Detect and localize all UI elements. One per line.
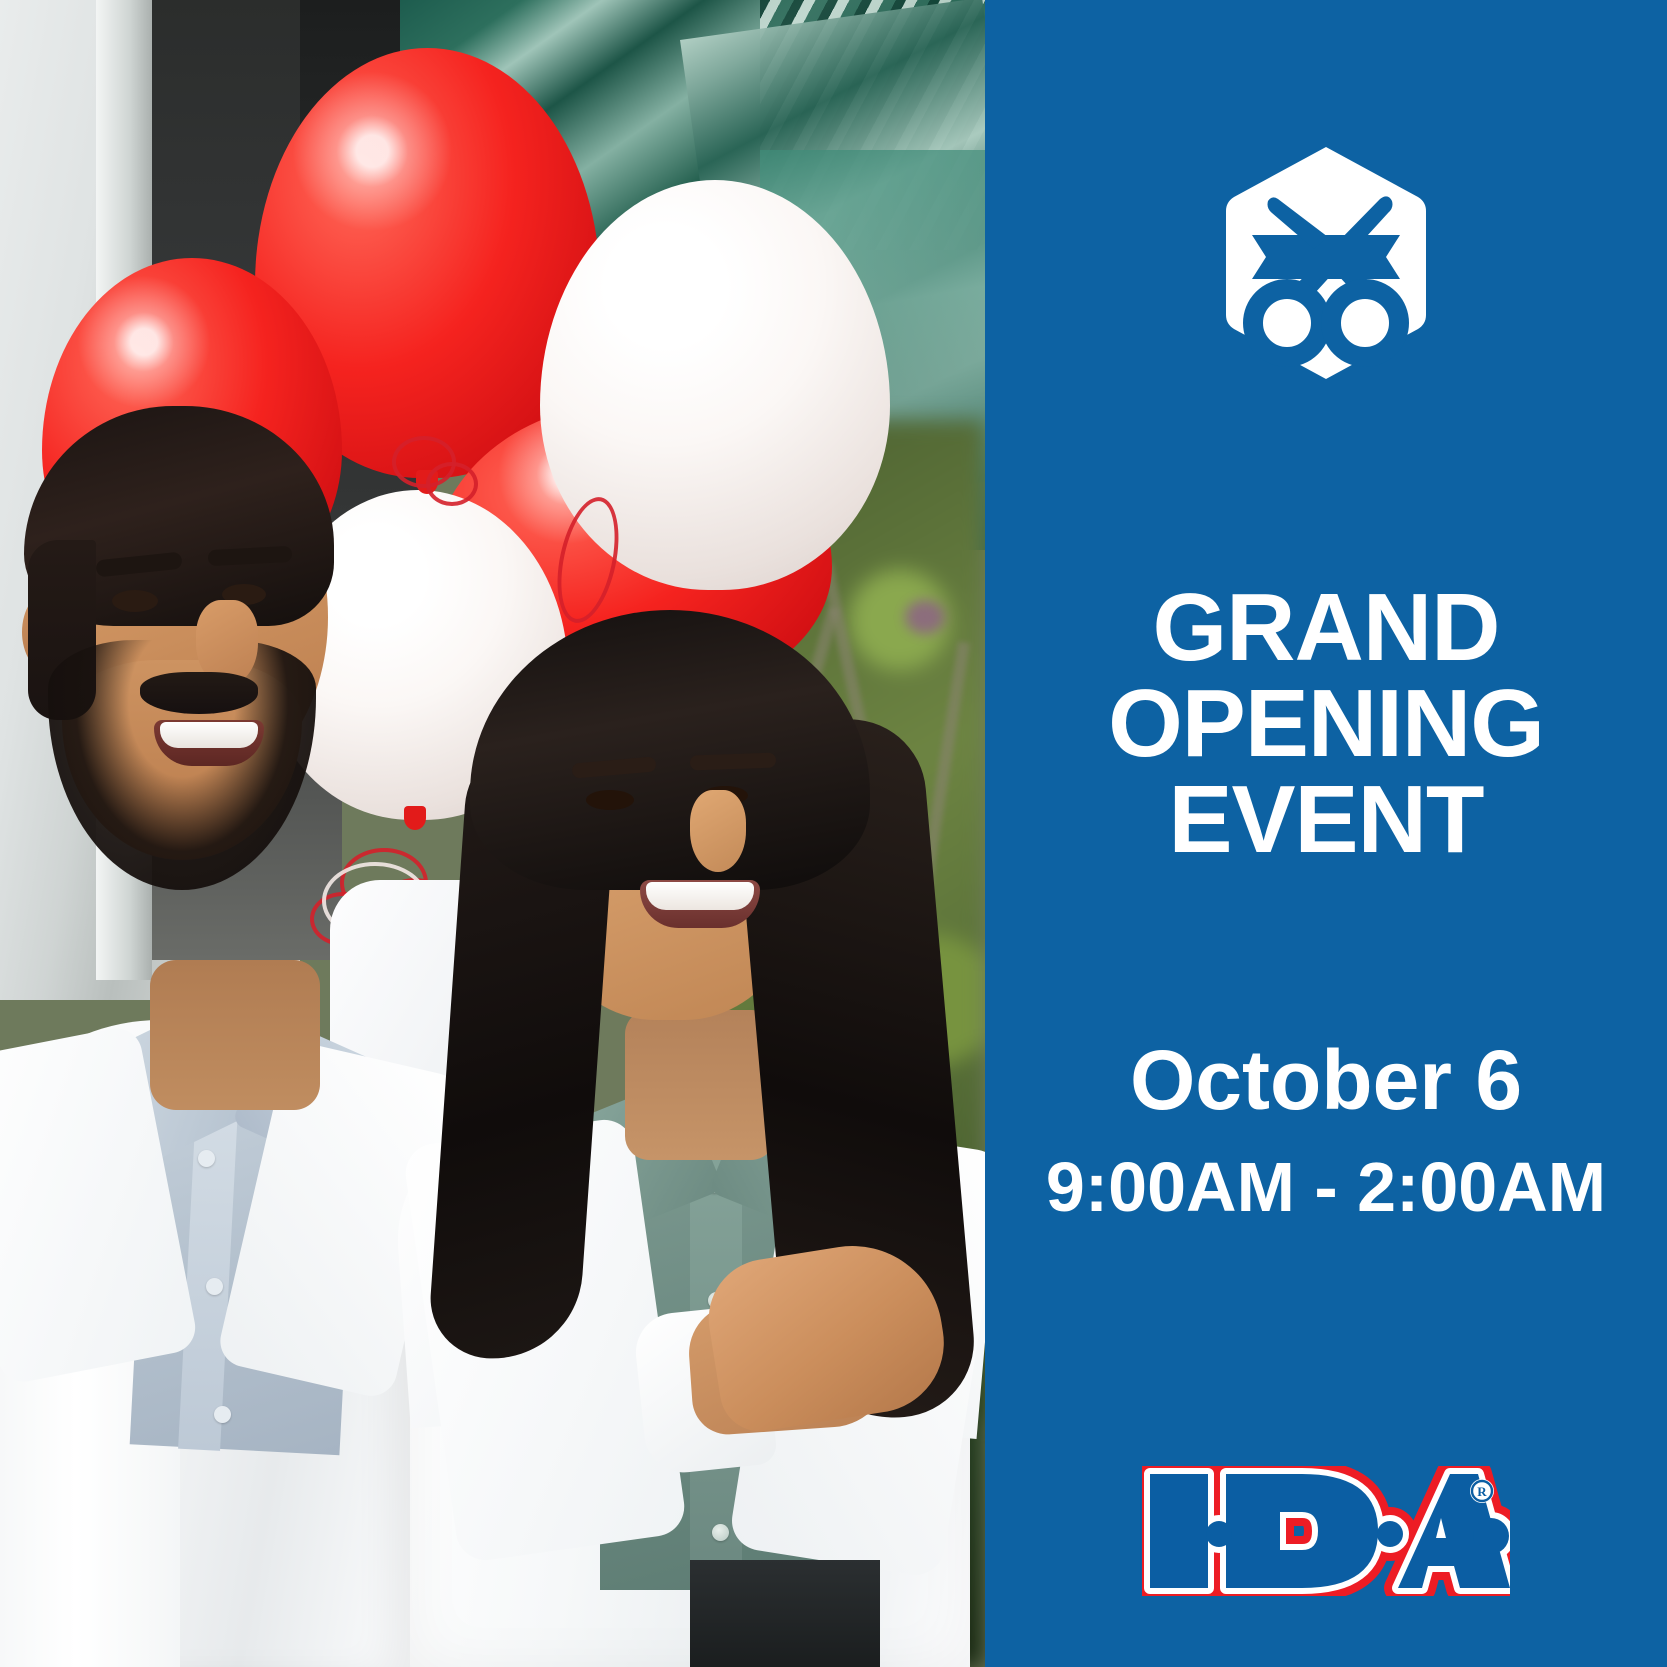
headline: GRAND OPENING EVENT [985,580,1667,868]
svg-text:R: R [1477,1484,1487,1499]
man-shirt-button [198,1150,215,1167]
balloon-knot [404,806,426,830]
man-moustache [140,672,258,714]
man-eye [112,590,158,612]
ida-pharmacy-logo: R [1142,1466,1510,1596]
woman-nose [690,790,746,872]
headline-line-2: OPENING [985,676,1667,772]
woman-teeth [646,882,754,910]
woman-eye [586,790,634,810]
headline-line-3: EVENT [985,772,1667,868]
grand-opening-poster: GRAND OPENING EVENT October 6 9:00AM - 2… [0,0,1667,1667]
registered-trademark-icon: R [1470,1479,1494,1503]
event-date: October 6 [985,1038,1667,1122]
headline-line-1: GRAND [985,580,1667,676]
woman-shirt-button [712,1524,729,1541]
ribbon-cutting-scissors-icon [1226,145,1426,381]
man-neck [150,960,320,1110]
man-shirt-button [206,1278,223,1295]
foliage-flower [905,600,945,634]
woman-trousers [690,1560,880,1667]
man-teeth [160,722,258,748]
man-shirt-button [214,1406,231,1423]
woman-eyebrow [690,753,776,771]
info-panel: GRAND OPENING EVENT October 6 9:00AM - 2… [985,0,1667,1667]
event-time: 9:00AM - 2:00AM [985,1152,1667,1222]
woman-neck [625,1010,775,1160]
ribbon-curl [426,462,478,506]
pharmacists-photo [0,0,985,1667]
